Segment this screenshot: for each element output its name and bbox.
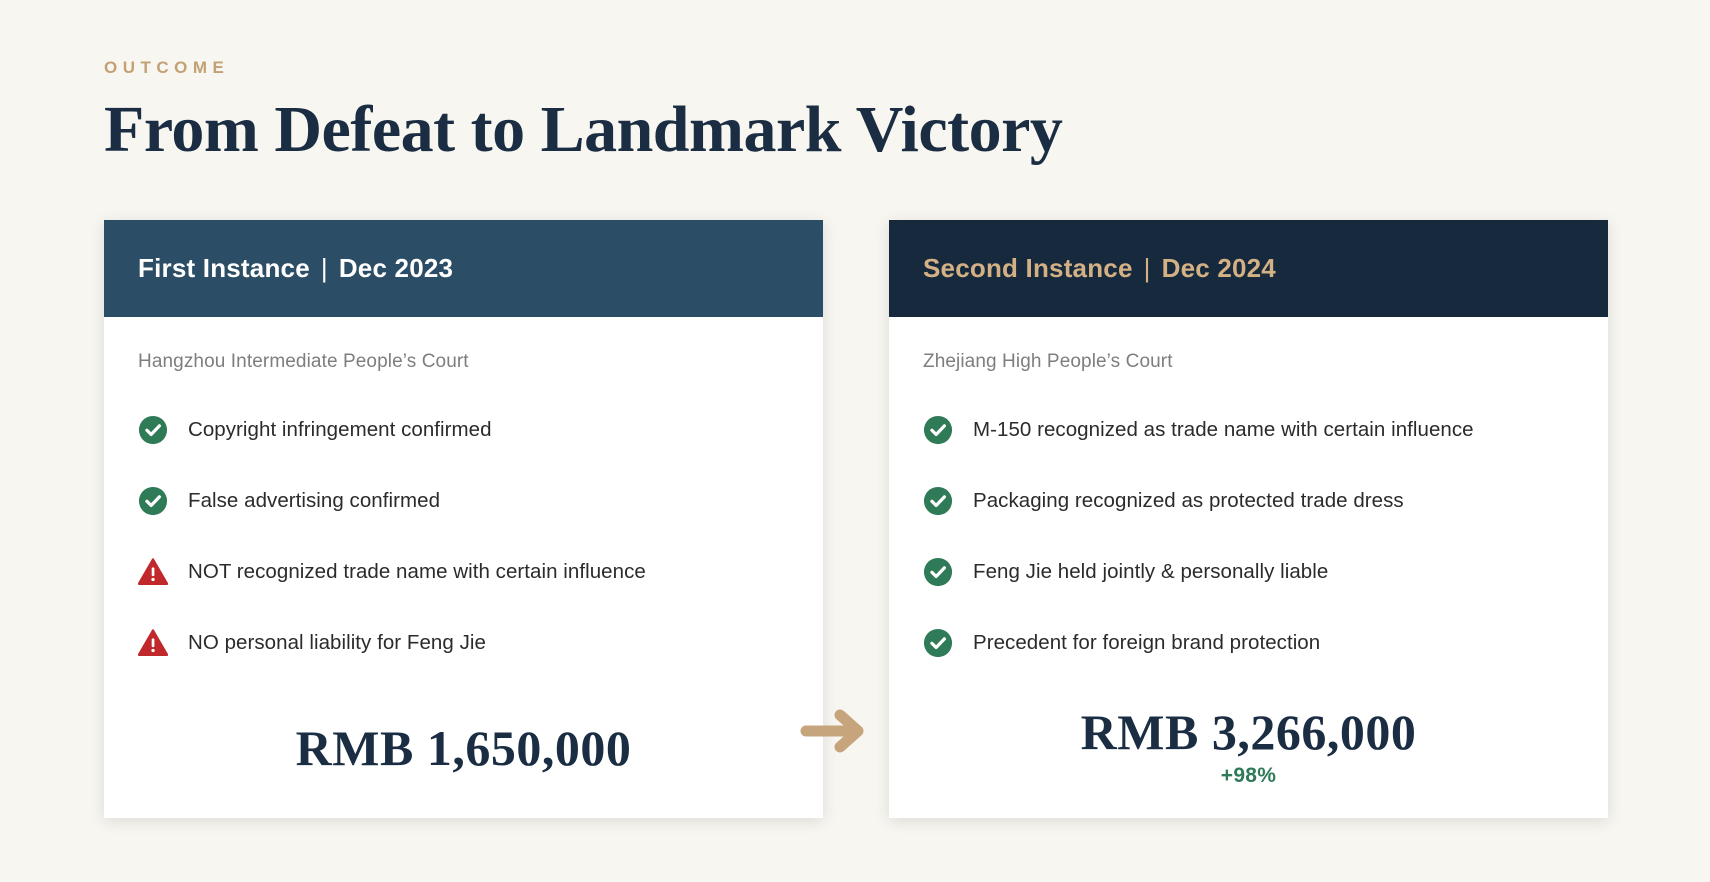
first-instance-amount-block: RMB 1,650,000 — [104, 722, 823, 775]
header-separator: | — [1133, 253, 1162, 284]
first-instance-label: First Instance — [138, 253, 310, 283]
list-item: Packaging recognized as protected trade … — [923, 474, 1574, 528]
comparison-cards-area: First Instance|Dec 2023 Hangzhou Interme… — [0, 220, 1710, 820]
first-instance-date: Dec 2023 — [339, 253, 453, 283]
finding-text: NOT recognized trade name with certain i… — [188, 559, 646, 585]
second-instance-amount: RMB 3,266,000 — [889, 706, 1608, 759]
list-item: NO personal liability for Feng Jie — [138, 616, 789, 670]
second-instance-card: Second Instance|Dec 2024 Zhejiang High P… — [889, 220, 1608, 818]
second-instance-date: Dec 2024 — [1162, 253, 1276, 283]
page-header: OUTCOME From Defeat to Landmark Victory — [104, 58, 1584, 166]
check-circle-icon — [923, 628, 953, 658]
first-instance-card-header: First Instance|Dec 2023 — [104, 220, 823, 317]
first-instance-card-body: Hangzhou Intermediate People’s Court Cop… — [104, 317, 823, 818]
section-eyebrow-label: OUTCOME — [104, 58, 1584, 78]
second-instance-amount-block: RMB 3,266,000 +98% — [889, 706, 1608, 789]
second-instance-label: Second Instance — [923, 253, 1133, 283]
second-instance-court-name: Zhejiang High People’s Court — [923, 351, 1574, 373]
finding-text: Precedent for foreign brand protection — [973, 630, 1320, 656]
finding-text: Packaging recognized as protected trade … — [973, 488, 1404, 514]
second-instance-header-title: Second Instance|Dec 2024 — [923, 253, 1276, 284]
header-separator: | — [310, 253, 339, 284]
amount-delta-badge: +98% — [889, 764, 1608, 788]
list-item: Copyright infringement confirmed — [138, 403, 789, 457]
list-item: Feng Jie held jointly & personally liabl… — [923, 545, 1574, 599]
first-instance-findings-list: Copyright infringement confirmed False a… — [138, 403, 789, 670]
list-item: NOT recognized trade name with certain i… — [138, 545, 789, 599]
list-item: Precedent for foreign brand protection — [923, 616, 1574, 670]
check-circle-icon — [923, 557, 953, 587]
check-circle-icon — [138, 486, 168, 516]
first-instance-header-title: First Instance|Dec 2023 — [138, 253, 453, 284]
arrow-right-icon — [800, 705, 870, 757]
finding-text: Feng Jie held jointly & personally liabl… — [973, 559, 1328, 585]
page-title: From Defeat to Landmark Victory — [104, 94, 1584, 165]
warning-triangle-icon — [138, 628, 168, 658]
check-circle-icon — [923, 486, 953, 516]
warning-triangle-icon — [138, 557, 168, 587]
finding-text: NO personal liability for Feng Jie — [188, 630, 486, 656]
second-instance-card-header: Second Instance|Dec 2024 — [889, 220, 1608, 317]
finding-text: Copyright infringement confirmed — [188, 417, 492, 443]
first-instance-card: First Instance|Dec 2023 Hangzhou Interme… — [104, 220, 823, 818]
check-circle-icon — [138, 415, 168, 445]
check-circle-icon — [923, 415, 953, 445]
finding-text: M-150 recognized as trade name with cert… — [973, 417, 1474, 443]
finding-text: False advertising confirmed — [188, 488, 440, 514]
list-item: False advertising confirmed — [138, 474, 789, 528]
first-instance-amount: RMB 1,650,000 — [104, 722, 823, 775]
second-instance-findings-list: M-150 recognized as trade name with cert… — [923, 403, 1574, 670]
first-instance-court-name: Hangzhou Intermediate People’s Court — [138, 351, 789, 373]
second-instance-card-body: Zhejiang High People’s Court M-150 recog… — [889, 317, 1608, 818]
list-item: M-150 recognized as trade name with cert… — [923, 403, 1574, 457]
